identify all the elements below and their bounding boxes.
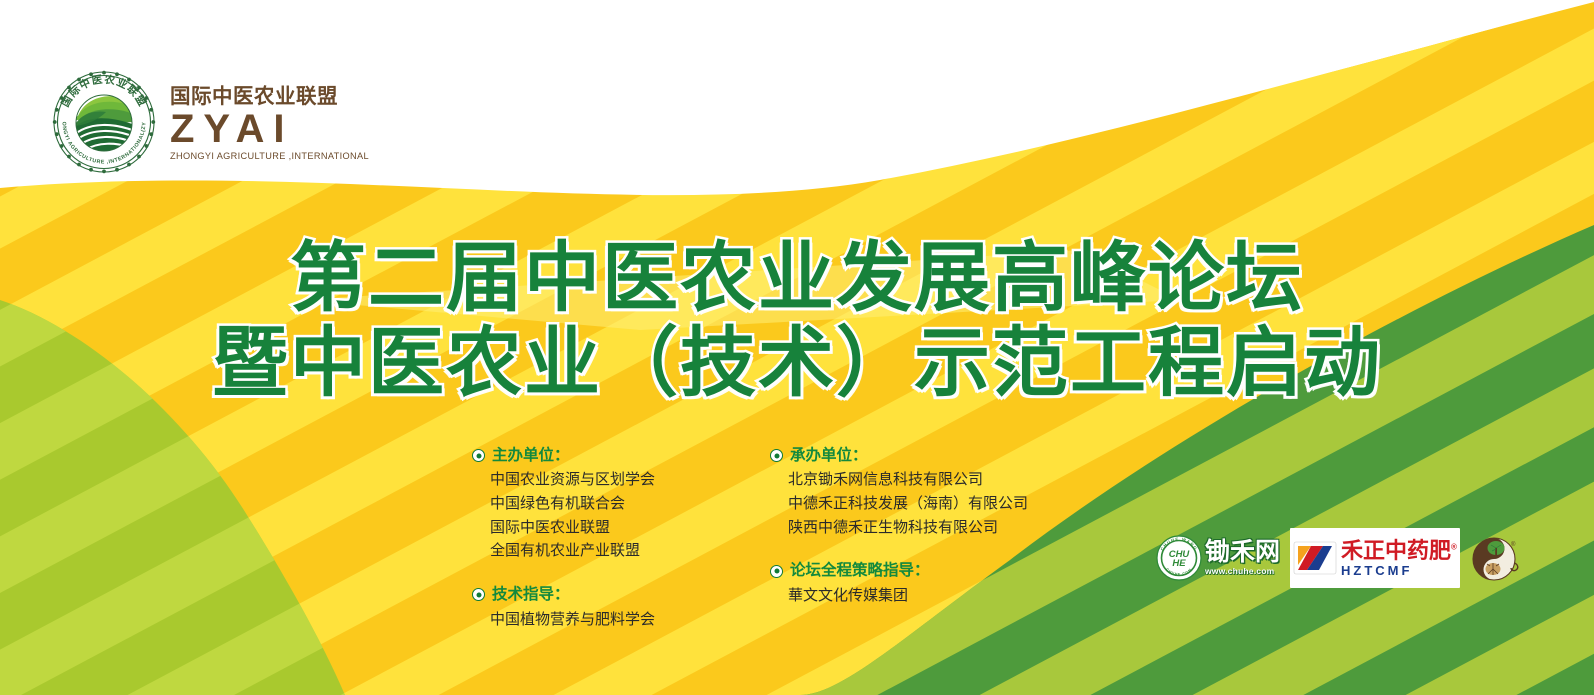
credit-item-list: 華文文化传媒集团 (788, 584, 1036, 608)
circle-dot-icon (770, 565, 783, 578)
chuhe-name: 锄禾网 (1205, 540, 1280, 565)
hezheng-name: 禾正中药肥® (1341, 540, 1457, 562)
title-line-1: 第二届中医农业发展高峰论坛 (0, 238, 1594, 317)
zyai-logo: 国际中医农业联盟 ZHONGYI AGRICULTURE ,INTERNATIO… (52, 68, 352, 176)
list-item: 中国绿色有机联合会 (490, 492, 738, 516)
hezheng-abbr: HZTCMF (1341, 564, 1457, 577)
credit-item-list: 中国农业资源与区划学会 中国绿色有机联合会 国际中医农业联盟 全国有机农业产业联… (490, 468, 738, 563)
credit-group-hosts: 承办单位： 北京锄禾网信息科技有限公司 中德禾正科技发展（海南）有限公司 陕西中… (770, 446, 1036, 539)
credits-block: 主办单位： 中国农业资源与区划学会 中国绿色有机联合会 国际中医农业联盟 全国有… (472, 446, 1036, 631)
list-item: 北京锄禾网信息科技有限公司 (788, 468, 1036, 492)
chuhe-logo: CHUHE WANG CHUHE.COM CHU HE 锄禾网 www.chuh… (1156, 530, 1280, 586)
list-item: 陕西中德禾正生物科技有限公司 (788, 516, 1036, 540)
list-item: 中国农业资源与区划学会 (490, 468, 738, 492)
credit-heading-label: 论坛全程策略指导： (790, 561, 930, 580)
registered-mark-text: ® (1511, 541, 1516, 548)
credit-group-strategy-guidance: 论坛全程策略指导： 華文文化传媒集团 (770, 561, 1036, 607)
yinyang-tree-root-icon: ® (1470, 533, 1522, 583)
credit-heading-label: 技术指导： (492, 585, 570, 604)
credit-heading-technical-guidance: 技术指导： (472, 585, 738, 604)
registered-mark: ® (1451, 542, 1457, 551)
list-item: 全国有机农业产业联盟 (490, 539, 738, 563)
zyai-wordmark-abbr: ZYAI (170, 108, 369, 150)
credit-heading-organizers: 主办单位： (472, 446, 738, 465)
sponsor-logos: CHUHE WANG CHUHE.COM CHU HE 锄禾网 www.chuh… (1156, 528, 1522, 588)
credit-heading-label: 承办单位： (790, 446, 868, 465)
chuhe-url: www.chuhe.com (1205, 567, 1280, 576)
hosts-column: 承办单位： 北京锄禾网信息科技有限公司 中德禾正科技发展（海南）有限公司 陕西中… (770, 446, 1036, 631)
credit-item-list: 北京锄禾网信息科技有限公司 中德禾正科技发展（海南）有限公司 陕西中德禾正生物科… (788, 468, 1036, 539)
circle-dot-icon (472, 449, 485, 462)
credit-heading-strategy-guidance: 论坛全程策略指导： (770, 561, 1036, 580)
hezheng-name-label: 禾正中药肥 (1341, 538, 1451, 563)
title-line-2: 暨中医农业（技术）示范工程启动 (0, 323, 1594, 402)
credit-heading-label: 主办单位： (492, 446, 570, 465)
circle-dot-icon (472, 588, 485, 601)
zyai-wordmark: 国际中医农业联盟 ZYAI ZHONGYI AGRICULTURE ,INTER… (170, 83, 369, 162)
list-item: 中德禾正科技发展（海南）有限公司 (788, 492, 1036, 516)
organizers-column: 主办单位： 中国农业资源与区划学会 中国绿色有机联合会 国际中医农业联盟 全国有… (472, 446, 738, 631)
zyai-wordmark-cn: 国际中医农业联盟 (170, 87, 369, 108)
svg-text:HE: HE (1172, 558, 1186, 569)
credit-group-organizers: 主办单位： 中国农业资源与区划学会 中国绿色有机联合会 国际中医农业联盟 全国有… (472, 446, 738, 563)
conference-banner: 国际中医农业联盟 ZHONGYI AGRICULTURE ,INTERNATIO… (0, 0, 1594, 695)
credit-item-list: 中国植物营养与肥料学会 (490, 608, 738, 632)
zyai-wordmark-en: ZHONGYI AGRICULTURE ,INTERNATIONAL (170, 152, 369, 161)
page-title: 第二届中医农业发展高峰论坛 暨中医农业（技术）示范工程启动 (0, 238, 1594, 402)
chuhe-emblem-icon: CHUHE WANG CHUHE.COM CHU HE (1156, 535, 1202, 581)
credit-group-technical-guidance: 技术指导： 中国植物营养与肥料学会 (472, 585, 738, 631)
list-item: 華文文化传媒集团 (788, 584, 1036, 608)
list-item: 中国植物营养与肥料学会 (490, 608, 738, 632)
zyai-circular-emblem-icon: 国际中医农业联盟 ZHONGYI AGRICULTURE ,INTERNATIO… (52, 70, 156, 174)
credit-heading-hosts: 承办单位： (770, 446, 1036, 465)
circle-dot-icon (770, 449, 783, 462)
list-item: 国际中医农业联盟 (490, 516, 738, 540)
z-mark-icon (1293, 541, 1337, 575)
tree-root-logo: ® (1470, 530, 1522, 586)
hezheng-logo: 禾正中药肥® HZTCMF (1290, 528, 1460, 588)
